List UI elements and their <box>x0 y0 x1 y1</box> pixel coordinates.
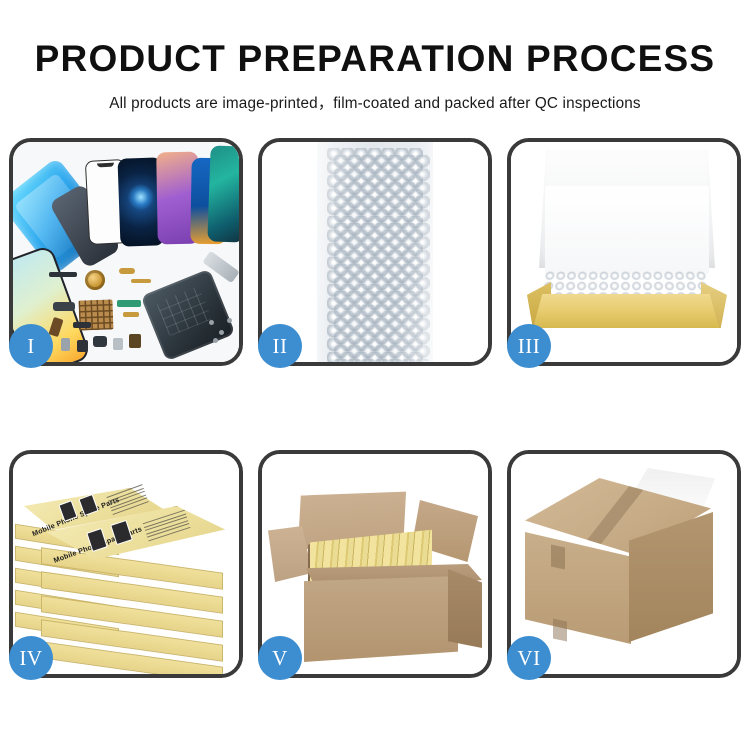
open-carton-scene <box>262 454 488 674</box>
spare-part <box>73 322 91 328</box>
spare-part <box>113 338 123 350</box>
foam-sheet <box>545 186 709 274</box>
process-step-5: V <box>258 450 492 678</box>
spare-part <box>123 312 139 317</box>
carton-front-face <box>525 532 631 644</box>
header: PRODUCT PREPARATION PROCESS All products… <box>0 0 750 113</box>
box-stack: Mobile Phone Spare Parts <box>13 454 239 674</box>
carton-seam-lower <box>553 619 567 642</box>
spare-part <box>129 334 141 348</box>
process-step-2: II <box>258 138 492 366</box>
gold-coil-part <box>85 270 105 290</box>
carton-seam-upper <box>551 545 565 570</box>
plastic-sheen <box>317 142 433 362</box>
step-badge-4: IV <box>9 636 53 680</box>
step-4-image: Mobile Phone Spare Parts <box>13 454 239 674</box>
process-step-1: I <box>9 138 243 366</box>
screw-part <box>227 318 232 323</box>
inner-box-scene <box>511 142 737 362</box>
teal-wave-phone <box>207 145 239 242</box>
process-step-grid: I II <box>9 138 741 678</box>
spare-part <box>49 272 77 277</box>
spare-part <box>93 336 107 347</box>
product-preparation-infographic: PRODUCT PREPARATION PROCESS All products… <box>0 0 750 750</box>
step-6-image <box>511 454 737 674</box>
process-step-6: VI <box>507 450 741 678</box>
process-step-4: Mobile Phone Spare Parts <box>9 450 243 678</box>
step-3-image <box>511 142 737 362</box>
step-2-image <box>262 142 488 362</box>
page-title: PRODUCT PREPARATION PROCESS <box>0 40 750 77</box>
bubble-wrap-scene <box>262 142 488 362</box>
spare-part <box>53 302 75 311</box>
spare-part <box>117 300 141 307</box>
step-5-image <box>262 454 488 674</box>
screw-part <box>219 330 224 335</box>
step-badge-5: V <box>258 636 302 680</box>
spare-part <box>131 279 151 283</box>
step-badge-1: I <box>9 324 53 368</box>
process-step-3: III <box>507 138 741 366</box>
screw-part <box>209 320 214 325</box>
step-badge-2: II <box>258 324 302 368</box>
step-badge-3: III <box>507 324 551 368</box>
spare-part <box>77 340 88 352</box>
page-subtitle: All products are image-printed，film-coat… <box>0 91 750 113</box>
spare-part <box>61 338 70 351</box>
carton-front-panel <box>304 576 458 662</box>
spare-part <box>119 268 135 274</box>
step-badge-6: VI <box>507 636 551 680</box>
step-1-image <box>13 142 239 362</box>
screw-part <box>213 338 218 343</box>
sealed-carton-scene <box>511 454 737 674</box>
box-front-panel <box>533 294 719 328</box>
stacked-boxes-scene: Mobile Phone Spare Parts <box>13 454 239 674</box>
phone-parts-scene <box>13 142 239 362</box>
disassembled-phone-back <box>141 269 236 362</box>
